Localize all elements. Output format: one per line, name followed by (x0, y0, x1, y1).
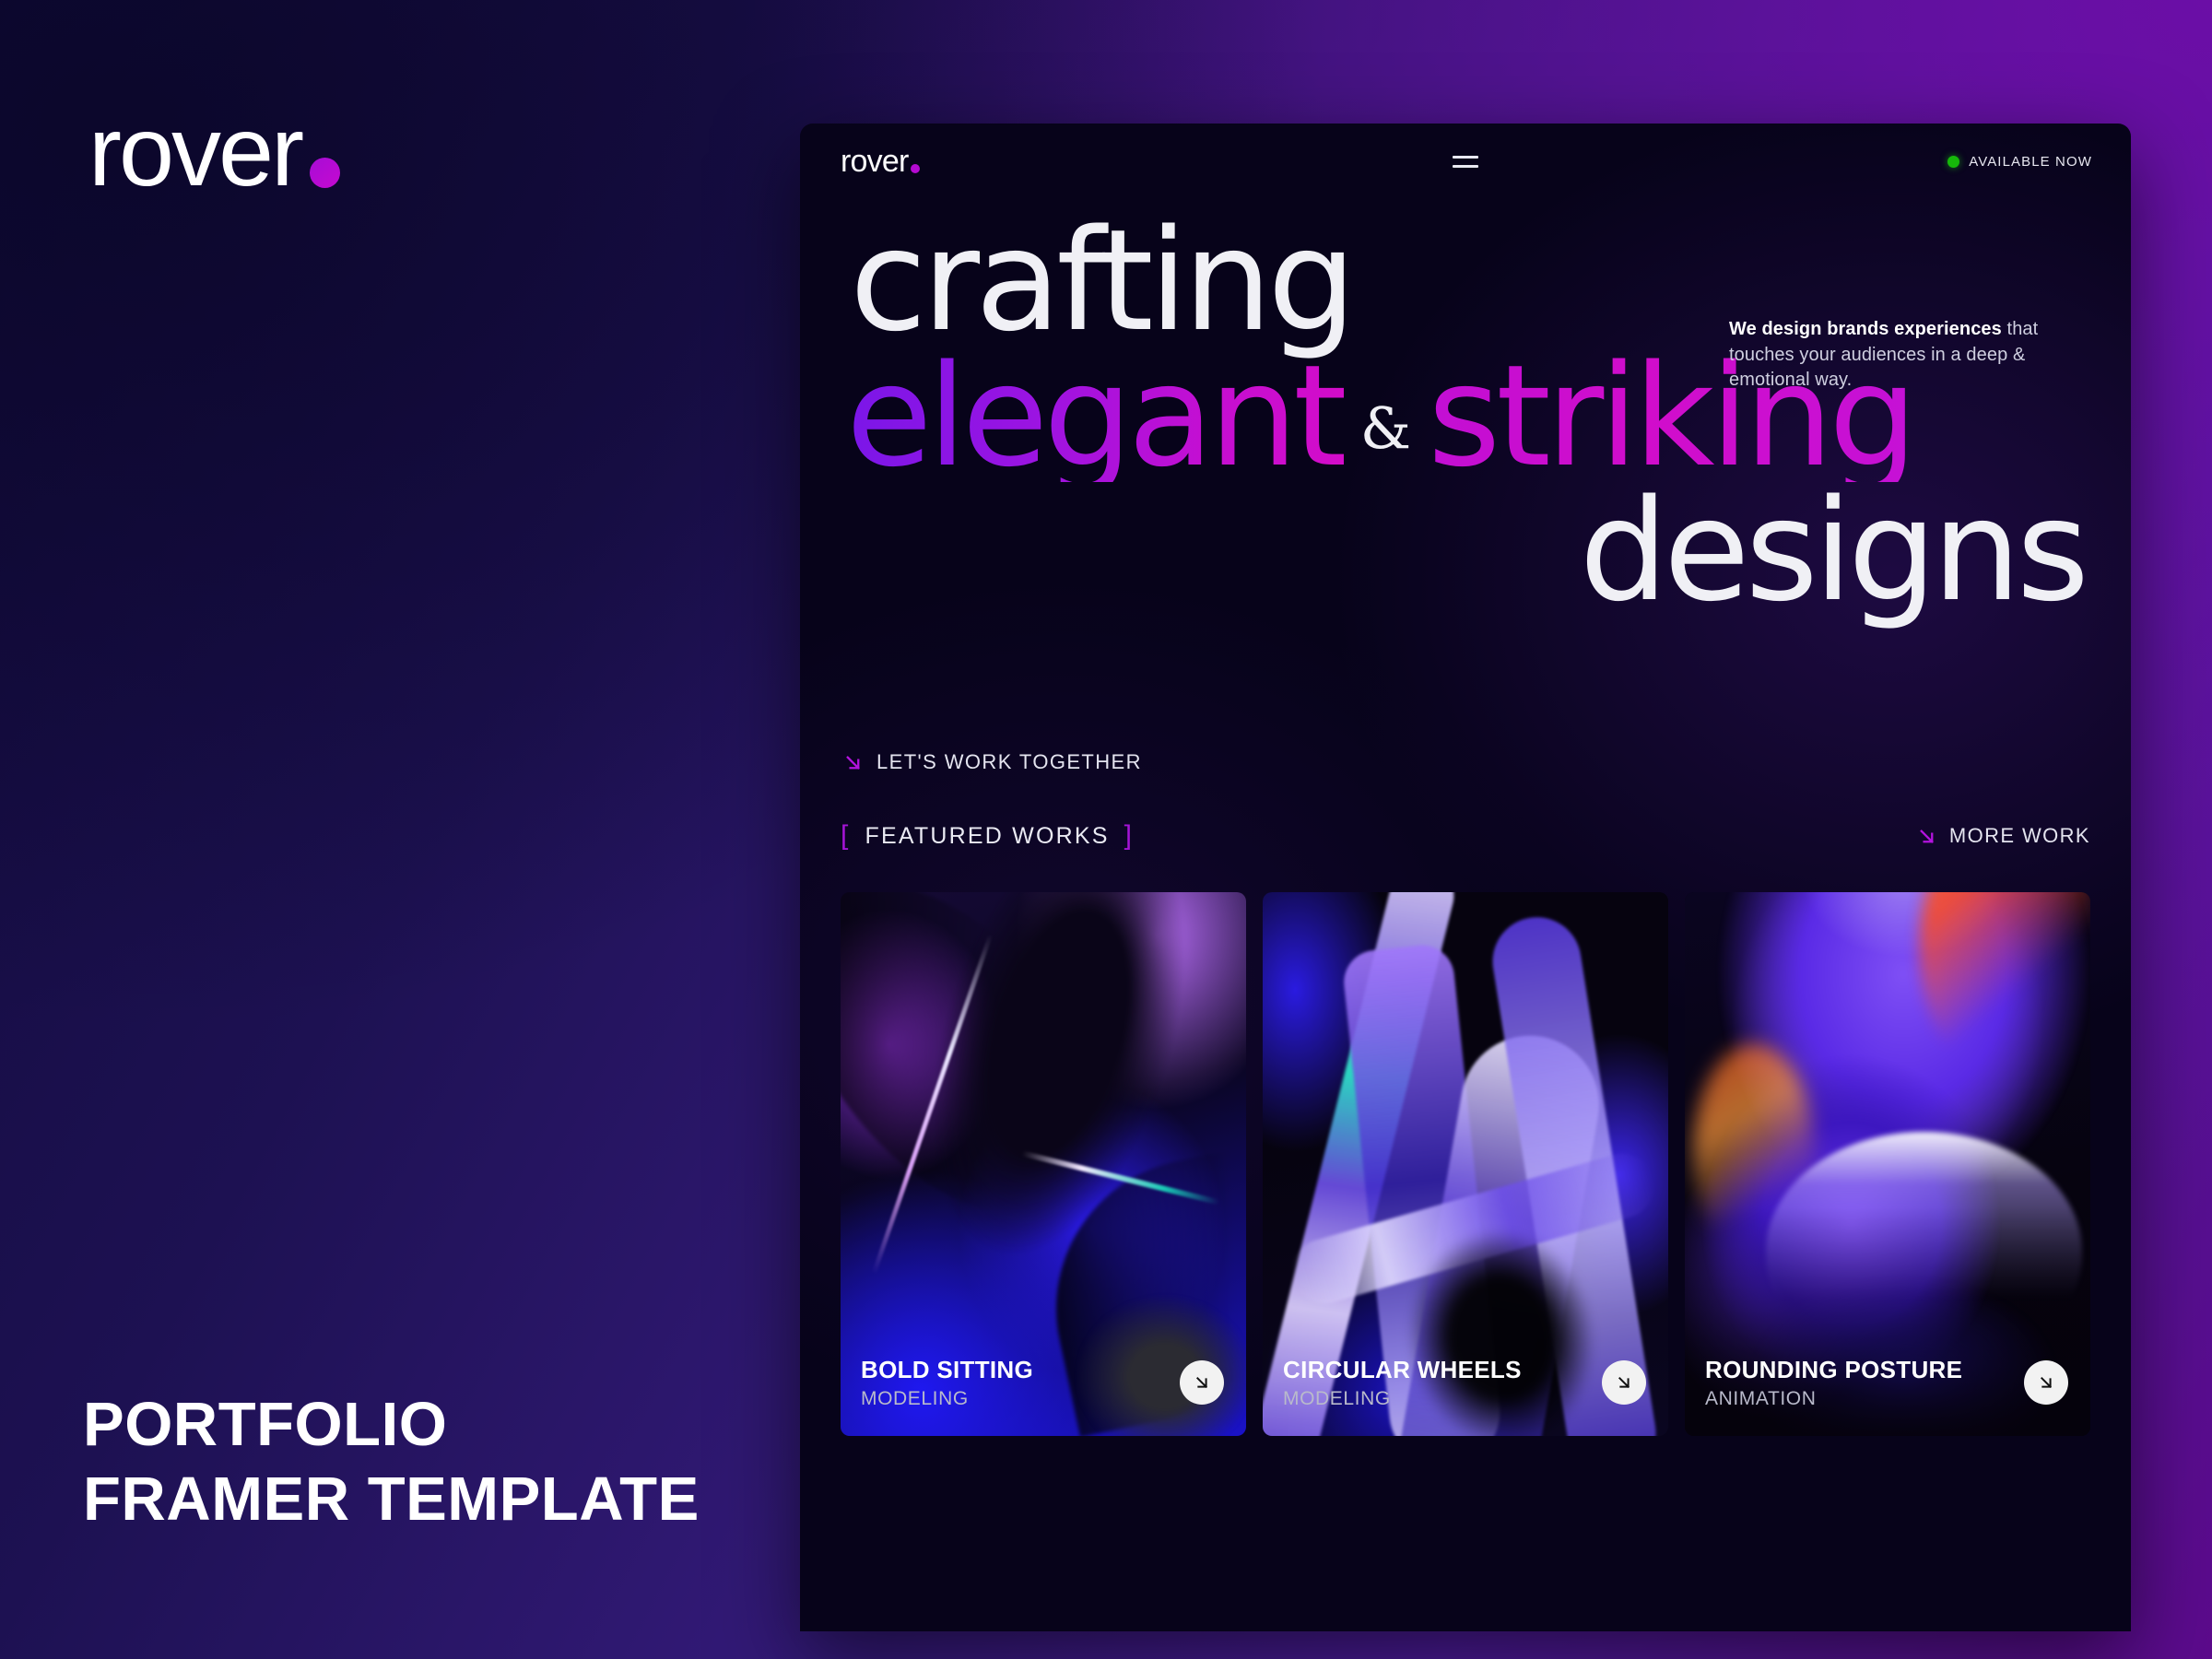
website-mockup: rover AVAILABLE NOW crafting elegant & s… (800, 124, 2131, 1631)
project-title: CIRCULAR WHEELS (1283, 1356, 1522, 1384)
project-card[interactable]: ROUNDING POSTURE ANIMATION (1685, 892, 2090, 1436)
project-meta: BOLD SITTING MODELING (861, 1356, 1033, 1410)
bracket-right: ] (1124, 820, 1135, 852)
featured-works-title: [ FEATURED WORKS ] (841, 820, 1134, 852)
promo-tagline-line-2: FRAMER TEMPLATE (83, 1462, 700, 1537)
project-thumbnail (1263, 892, 1668, 1436)
hero-word-elegant: elegant (846, 351, 1344, 481)
hero-line-3: designs (841, 486, 2092, 616)
bracket-left: [ (841, 820, 851, 852)
site-header: rover AVAILABLE NOW (800, 124, 2131, 199)
project-title: BOLD SITTING (861, 1356, 1033, 1384)
featured-works-grid: BOLD SITTING MODELING CIRCULAR WHEELS MO… (800, 892, 2131, 1436)
project-thumbnail (841, 892, 1246, 1436)
project-title: ROUNDING POSTURE (1705, 1356, 1962, 1384)
hamburger-menu-button[interactable] (1447, 150, 1484, 173)
featured-works-label: FEATURED WORKS (865, 823, 1110, 850)
arrow-down-right-icon (2036, 1372, 2056, 1393)
arrow-down-right-icon (1614, 1372, 1634, 1393)
status-dot-icon (1947, 156, 1959, 168)
project-meta: CIRCULAR WHEELS MODELING (1283, 1356, 1522, 1410)
more-work-label: MORE WORK (1949, 824, 2090, 848)
lets-work-together-label: LET'S WORK TOGETHER (877, 750, 1142, 774)
project-category: MODELING (861, 1388, 1033, 1410)
hamburger-icon-line-1 (1453, 156, 1478, 159)
arrow-down-right-icon (1192, 1372, 1212, 1393)
site-logo-text: rover (841, 148, 908, 175)
hamburger-icon-line-2 (1453, 165, 1478, 168)
hero-description-bold: We design brands experiences (1729, 319, 2002, 339)
project-category: ANIMATION (1705, 1388, 1962, 1410)
promo-logo-text: rover (88, 109, 301, 194)
site-logo[interactable]: rover (841, 148, 920, 175)
featured-works-header: [ FEATURED WORKS ] MORE WORK (800, 820, 2131, 852)
site-logo-dot-icon (911, 164, 920, 173)
project-open-button[interactable] (2024, 1360, 2068, 1405)
hero-section: crafting elegant & striking designs We d… (800, 199, 2131, 616)
project-thumbnail (1685, 892, 2090, 1436)
arrow-down-right-icon (842, 752, 864, 773)
lets-work-together-link[interactable]: LET'S WORK TOGETHER (842, 750, 1142, 774)
promo-logo-dot-icon (310, 158, 340, 188)
hero-ampersand: & (1360, 402, 1411, 455)
project-open-button[interactable] (1180, 1360, 1224, 1405)
project-meta: ROUNDING POSTURE ANIMATION (1705, 1356, 1962, 1410)
project-open-button[interactable] (1602, 1360, 1646, 1405)
more-work-link[interactable]: MORE WORK (1916, 824, 2090, 848)
promo-tagline: PORTFOLIO FRAMER TEMPLATE (83, 1387, 700, 1537)
promo-tagline-line-1: PORTFOLIO (83, 1387, 700, 1463)
availability-label: AVAILABLE NOW (1969, 154, 2092, 170)
hero-heading: crafting elegant & striking designs (841, 216, 2092, 616)
project-card[interactable]: BOLD SITTING MODELING (841, 892, 1246, 1436)
project-card[interactable]: CIRCULAR WHEELS MODELING (1263, 892, 1668, 1436)
hero-description: We design brands experiences that touche… (1729, 317, 2092, 394)
arrow-down-right-icon (1916, 826, 1937, 847)
project-category: MODELING (1283, 1388, 1522, 1410)
promo-logo: rover (88, 109, 340, 194)
availability-status-badge: AVAILABLE NOW (1947, 154, 2092, 170)
